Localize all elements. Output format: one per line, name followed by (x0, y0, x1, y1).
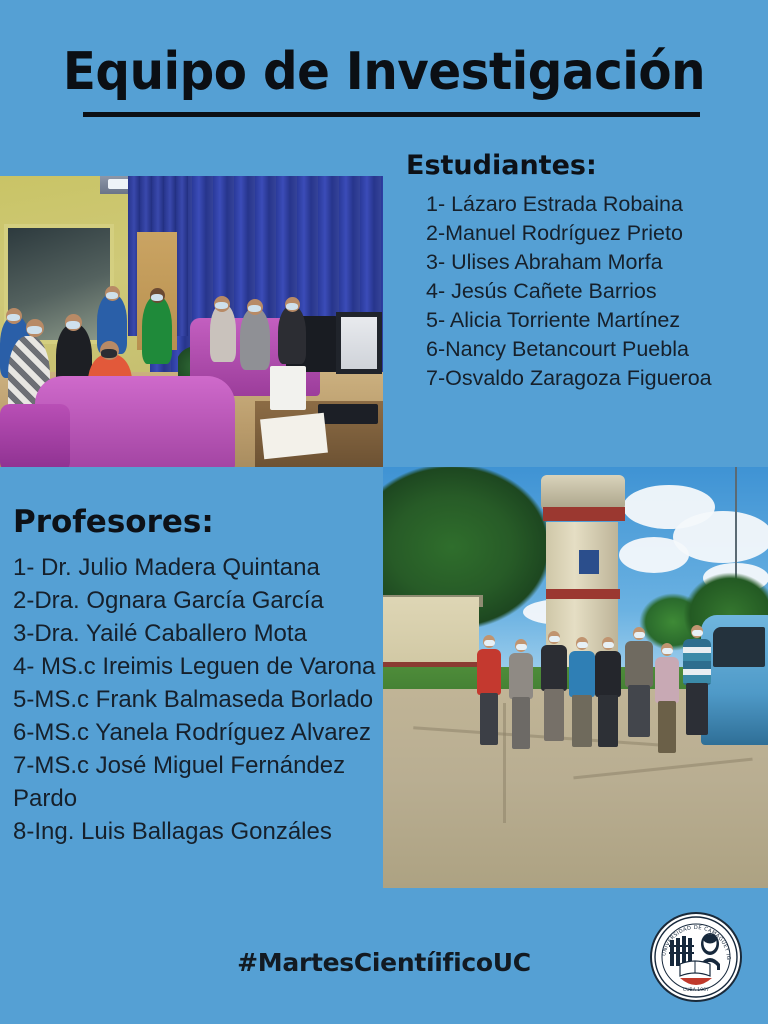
indoor-person (142, 296, 172, 364)
photo-indoor-meeting (0, 176, 383, 467)
photo-outdoor-group (383, 467, 768, 888)
indoor-person (210, 304, 236, 362)
outdoor-person-mask (577, 642, 588, 648)
logo-open-book (680, 961, 710, 976)
outdoor-person (683, 625, 711, 751)
outdoor-tower-band-mid (546, 589, 620, 599)
title-block: Equipo de Investigación (0, 44, 768, 101)
logo-artwork: UNIVERSIDAD DE CAMAGUEY IGNACIO AGRAMONT… (650, 912, 742, 1002)
indoor-person-mask (215, 302, 228, 309)
outdoor-person-mask (549, 636, 560, 642)
poster-root: Equipo de Investigación (0, 0, 768, 1024)
outdoor-person-mask (692, 630, 703, 636)
professors-section: Profesores: 1- Dr. Julio Madera Quintana… (13, 506, 393, 848)
outdoor-person-mask (662, 648, 673, 654)
indoor-person (278, 306, 306, 364)
list-item: 3-Dra. Yailé Caballero Mota (13, 617, 393, 650)
list-item: 5-MS.c Frank Balmaseda Borlado (13, 683, 393, 716)
outdoor-person-legs (480, 693, 498, 745)
indoor-person-mask (151, 294, 163, 301)
list-item: 4- MS.c Ireimis Leguen de Varona (13, 650, 393, 683)
list-item: 1- Lázaro Estrada Robaina (426, 190, 760, 219)
list-item: 3- Ulises Abraham Morfa (426, 248, 760, 277)
outdoor-person-mask (516, 644, 527, 650)
outdoor-tower-window (579, 550, 599, 574)
list-item: 7-MS.c José Miguel Fernández Pardo (13, 749, 393, 815)
list-item: 8-Ing. Luis Ballagas Gonzáles (13, 815, 393, 848)
outdoor-person-legs (658, 701, 676, 753)
indoor-person-mask (248, 305, 261, 312)
outdoor-person-torso (569, 651, 595, 697)
outdoor-person (509, 639, 533, 749)
list-item: 2-Dra. Ognara García García (13, 584, 393, 617)
indoor-keyboard (318, 404, 378, 424)
outdoor-person (569, 637, 595, 749)
outdoor-person (477, 635, 501, 747)
title-underline-rule (83, 112, 700, 117)
list-item: 6-Nancy Betancourt Puebla (426, 335, 760, 364)
list-item: 7-Osvaldo Zaragoza Figueroa (426, 364, 760, 393)
outdoor-person-mask (603, 642, 614, 648)
outdoor-person-torso (477, 649, 501, 695)
list-item: 4- Jesús Cañete Barrios (426, 277, 760, 306)
list-item: 1- Dr. Julio Madera Quintana (13, 551, 393, 584)
indoor-person-mask (101, 349, 117, 358)
page-title: Equipo de Investigación (27, 44, 741, 101)
outdoor-person-torso (683, 639, 711, 685)
outdoor-ground-crack (503, 703, 506, 823)
outdoor-person-legs (686, 683, 708, 735)
students-heading: Estudiantes: (404, 152, 760, 180)
outdoor-person-mask (634, 632, 645, 638)
outdoor-person-torso (509, 653, 533, 699)
list-item: 5- Alicia Torriente Martínez (426, 306, 760, 335)
outdoor-person-legs (598, 695, 618, 747)
outdoor-person-torso (625, 641, 653, 687)
outdoor-tower-band-top (543, 507, 625, 521)
outdoor-person (541, 631, 567, 747)
indoor-person-mask (66, 321, 80, 329)
students-section: Estudiantes: 1- Lázaro Estrada Robaina 2… (404, 152, 760, 393)
outdoor-person-legs (628, 685, 650, 737)
outdoor-person-mask (484, 640, 495, 646)
indoor-monitor-front (336, 312, 382, 374)
outdoor-cloud (619, 537, 689, 573)
professors-list: 1- Dr. Julio Madera Quintana 2-Dra. Ogna… (13, 551, 393, 848)
indoor-person-mask (286, 303, 298, 310)
outdoor-person (595, 637, 621, 751)
outdoor-water-tank (541, 475, 625, 511)
indoor-person-mask (7, 314, 20, 321)
indoor-sofa-left (0, 404, 70, 467)
outdoor-person-torso (595, 651, 621, 697)
indoor-person-mask (106, 292, 118, 299)
university-seal-logo: UNIVERSIDAD DE CAMAGUEY IGNACIO AGRAMONT… (650, 912, 742, 1002)
logo-bottom-text: CUBA 1967 (683, 987, 709, 993)
professors-heading: Profesores: (13, 506, 393, 539)
outdoor-person-torso (655, 657, 679, 703)
list-item: 2-Manuel Rodríguez Prieto (426, 219, 760, 248)
outdoor-person-legs (512, 697, 530, 749)
indoor-papers (260, 413, 328, 459)
outdoor-person-torso (541, 645, 567, 691)
logo-red-arc (680, 978, 712, 985)
outdoor-person-legs (544, 689, 564, 741)
outdoor-van-window (713, 627, 765, 667)
outdoor-person-legs (572, 695, 592, 747)
outdoor-person (655, 643, 679, 751)
outdoor-person (625, 627, 653, 749)
indoor-person-mask (27, 326, 42, 334)
indoor-pc-tower (270, 366, 306, 410)
indoor-person (240, 308, 270, 370)
list-item: 6-MS.c Yanela Rodríguez Alvarez (13, 716, 393, 749)
students-list: 1- Lázaro Estrada Robaina 2-Manuel Rodrí… (404, 190, 760, 393)
